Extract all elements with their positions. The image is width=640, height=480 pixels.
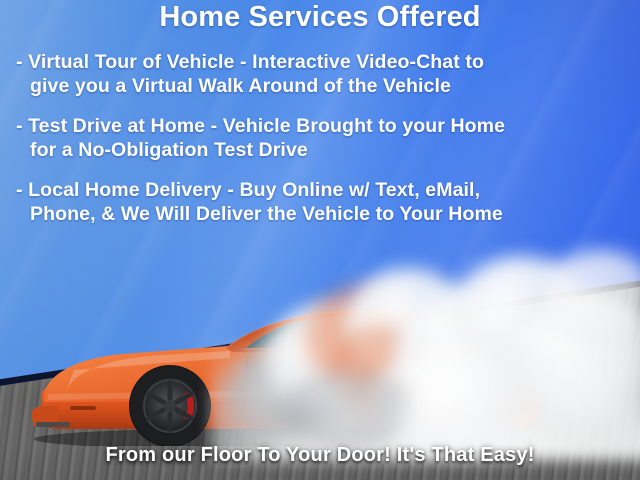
list-item: - Local Home Delivery - Buy Online w/ Te…	[14, 178, 626, 226]
bullet-line-2: Phone, & We Will Deliver the Vehicle to …	[18, 202, 626, 226]
list-item: - Test Drive at Home - Vehicle Brought t…	[14, 114, 626, 162]
list-item: - Virtual Tour of Vehicle - Interactive …	[14, 50, 626, 98]
bullet-line-2: for a No-Obligation Test Drive	[18, 138, 626, 162]
orange-challenger-car-image: R/T	[14, 296, 574, 446]
bullet-line-1: - Test Drive at Home - Vehicle Brought t…	[16, 115, 505, 137]
bullet-line-1: - Local Home Delivery - Buy Online w/ Te…	[16, 179, 480, 201]
copy-block: Home Services Offered - Virtual Tour of …	[0, 0, 640, 232]
page-title: Home Services Offered	[14, 0, 626, 34]
services-list: - Virtual Tour of Vehicle - Interactive …	[14, 50, 626, 226]
home-services-banner: R/T	[0, 0, 640, 480]
tagline: From our Floor To Your Door! It's That E…	[0, 444, 640, 467]
bullet-line-2: give you a Virtual Walk Around of the Ve…	[18, 74, 626, 98]
svg-text:R/T: R/T	[271, 371, 286, 381]
bullet-line-1: - Virtual Tour of Vehicle - Interactive …	[16, 51, 484, 73]
